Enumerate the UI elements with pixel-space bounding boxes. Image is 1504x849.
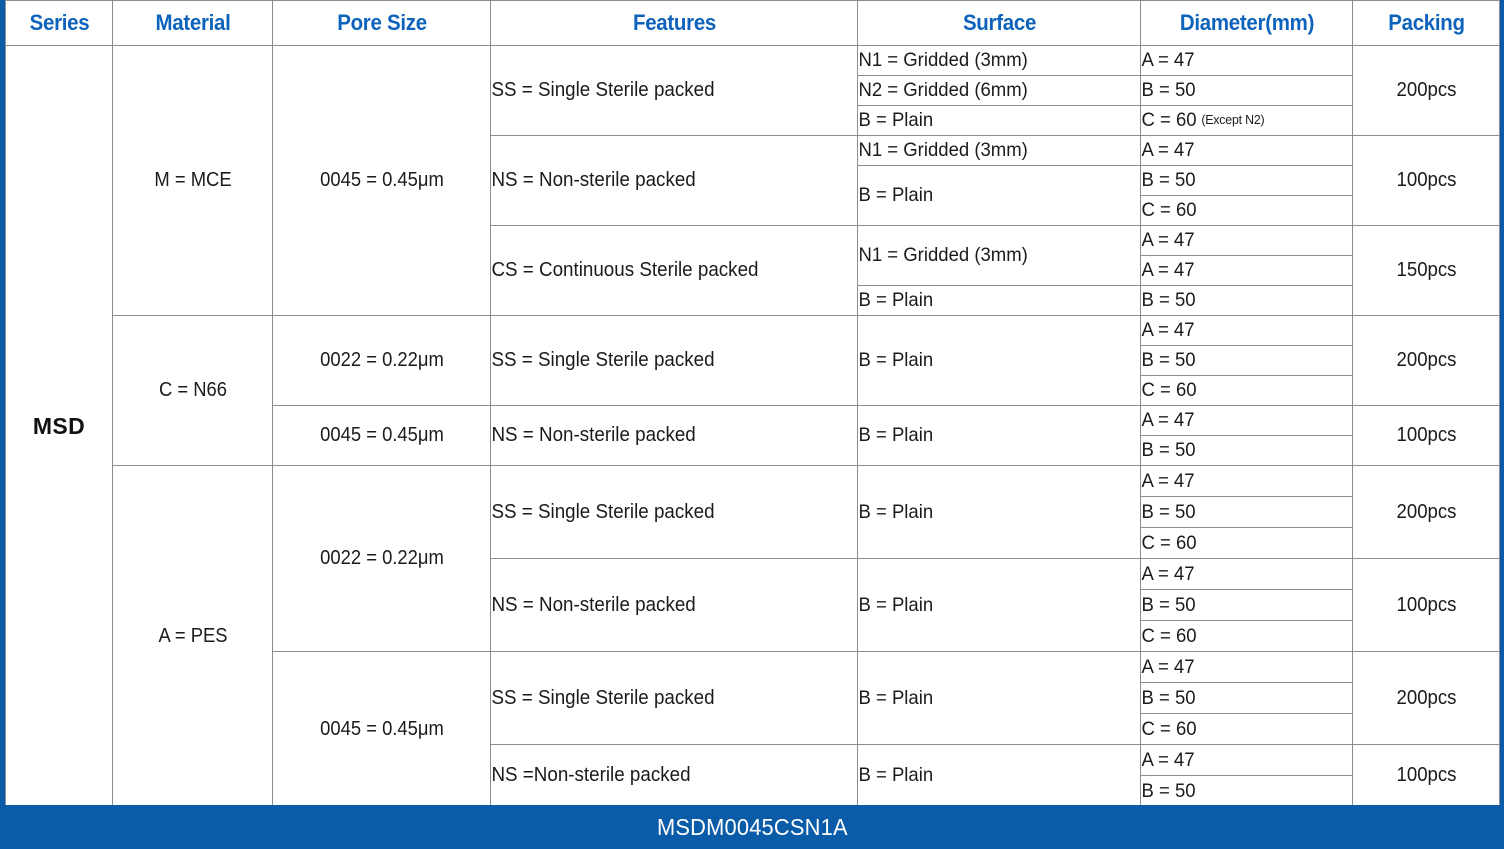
- cell-diameter: A = 47: [1141, 652, 1342, 683]
- col-header-features: Features: [503, 1, 844, 46]
- cell-material-n66: C = N66: [119, 316, 266, 466]
- diameter-value: C = 60: [1141, 532, 1196, 554]
- cell-surface: B = Plain: [858, 652, 1127, 745]
- cell-pore-mce-0045: 0045 = 0.45μm: [281, 46, 482, 316]
- cell-feature-ss: SS = Single Sterile packed: [491, 652, 836, 745]
- cell-diameter: B = 50: [1141, 436, 1342, 466]
- header-row: Series Material Pore Size Features Surfa…: [6, 1, 1500, 46]
- cell-packing: 200pcs: [1358, 46, 1495, 136]
- spec-table-page: Series Material Pore Size Features Surfa…: [0, 0, 1504, 849]
- cell-packing: 200pcs: [1358, 652, 1495, 745]
- diameter-value: A = 47: [1141, 259, 1194, 281]
- cell-diameter: C = 60: [1141, 714, 1342, 745]
- diameter-value: B = 50: [1141, 780, 1195, 802]
- cell-packing: 100pcs: [1358, 136, 1495, 226]
- cell-diameter: A = 47: [1141, 136, 1342, 166]
- diameter-value: A = 47: [1141, 229, 1194, 251]
- cell-feature-ns: NS = Non-sterile packed: [491, 136, 836, 226]
- cell-surface: N2 = Gridded (6mm): [858, 76, 1127, 106]
- cell-diameter: B = 50: [1141, 286, 1342, 316]
- cell-diameter: A = 47: [1141, 226, 1342, 256]
- cell-diameter: A = 47: [1141, 46, 1342, 76]
- cell-feature-ns: NS = Non-sterile packed: [491, 559, 836, 652]
- cell-pore-pes-0045: 0045 = 0.45μm: [281, 652, 482, 807]
- cell-surface: B = Plain: [858, 106, 1127, 136]
- cell-diameter: A = 47: [1141, 406, 1342, 436]
- cell-material-mce: M = MCE: [119, 46, 266, 316]
- cell-diameter: B = 50: [1141, 166, 1342, 196]
- cell-surface: B = Plain: [858, 406, 1127, 466]
- cell-pore-pes-0022: 0022 = 0.22μm: [281, 466, 482, 652]
- cell-packing: 100pcs: [1358, 559, 1495, 652]
- diameter-value: B = 50: [1141, 79, 1195, 101]
- cell-diameter: C = 60: [1141, 621, 1342, 652]
- cell-packing: 200pcs: [1358, 466, 1495, 559]
- diameter-value: A = 47: [1141, 563, 1194, 585]
- diameter-note: (Except N2): [1201, 112, 1264, 127]
- cell-diameter: B = 50: [1141, 683, 1342, 714]
- col-header-diameter: Diameter(mm): [1148, 1, 1345, 46]
- cell-diameter: C = 60: [1141, 196, 1342, 226]
- diameter-value: B = 50: [1141, 439, 1195, 461]
- table-row: C = N66 0022 = 0.22μm SS = Single Steril…: [6, 316, 1500, 346]
- cell-packing: 100pcs: [1358, 745, 1495, 807]
- diameter-value: A = 47: [1141, 319, 1194, 341]
- diameter-value: B = 50: [1141, 687, 1195, 709]
- cell-diameter: A = 47: [1141, 316, 1342, 346]
- cell-feature-ns: NS = Non-sterile packed: [491, 406, 836, 466]
- diameter-value: A = 47: [1141, 656, 1194, 678]
- cell-diameter: C = 60: [1141, 376, 1342, 406]
- cell-diameter: B = 50: [1141, 776, 1342, 807]
- cell-surface: B = Plain: [858, 316, 1127, 406]
- col-header-surface: Surface: [867, 1, 1130, 46]
- cell-feature-ns: NS =Non-sterile packed: [491, 745, 836, 807]
- diameter-value: C = 60: [1141, 718, 1196, 740]
- cell-diameter: A = 47: [1141, 256, 1342, 286]
- cell-surface: B = Plain: [858, 466, 1127, 559]
- col-header-packing: Packing: [1358, 1, 1495, 46]
- cell-diameter: B = 50: [1141, 76, 1342, 106]
- ordering-information-table: Series Material Pore Size Features Surfa…: [5, 0, 1500, 807]
- diameter-value: C = 60: [1141, 379, 1196, 401]
- cell-material-pes: A = PES: [119, 466, 266, 807]
- diameter-value: C = 60: [1141, 109, 1196, 131]
- diameter-value: A = 47: [1141, 139, 1194, 161]
- cell-feature-ss: SS = Single Sterile packed: [491, 466, 836, 559]
- col-header-material: Material: [118, 1, 267, 46]
- cell-surface: N1 = Gridded (3mm): [858, 226, 1127, 286]
- cell-diameter: A = 47: [1141, 466, 1342, 497]
- diameter-value: A = 47: [1141, 749, 1194, 771]
- cell-diameter: B = 50: [1141, 590, 1342, 621]
- cell-diameter: B = 50: [1141, 497, 1342, 528]
- diameter-value: B = 50: [1141, 289, 1195, 311]
- cell-series: MSD: [6, 46, 113, 807]
- cell-packing: 200pcs: [1358, 316, 1495, 406]
- diameter-value: C = 60: [1141, 199, 1196, 221]
- cell-pore-n66-0045: 0045 = 0.45μm: [281, 406, 482, 466]
- table-body: MSD M = MCE 0045 = 0.45μm SS = Single St…: [6, 46, 1500, 807]
- diameter-value: A = 47: [1141, 49, 1194, 71]
- cell-diameter: C = 60: [1141, 528, 1342, 559]
- col-header-pore-size: Pore Size: [280, 1, 483, 46]
- diameter-value: B = 50: [1141, 349, 1195, 371]
- col-header-series: Series: [9, 1, 109, 46]
- cell-surface: N1 = Gridded (3mm): [858, 136, 1127, 166]
- cell-surface: B = Plain: [858, 286, 1127, 316]
- diameter-value: B = 50: [1141, 501, 1195, 523]
- cell-diameter: C = 60(Except N2): [1141, 106, 1342, 136]
- cell-feature-ss: SS = Single Sterile packed: [491, 46, 836, 136]
- cell-diameter: B = 50: [1141, 346, 1342, 376]
- cell-diameter: A = 47: [1141, 559, 1342, 590]
- table-header: Series Material Pore Size Features Surfa…: [6, 1, 1500, 46]
- cell-feature-cs: CS = Continuous Sterile packed: [491, 226, 836, 316]
- diameter-value: C = 60: [1141, 625, 1196, 647]
- part-number-text: MSDM0045CSN1A: [657, 814, 848, 841]
- cell-surface: N1 = Gridded (3mm): [858, 46, 1127, 76]
- cell-feature-ss: SS = Single Sterile packed: [491, 316, 836, 406]
- diameter-value: A = 47: [1141, 470, 1194, 492]
- diameter-value: B = 50: [1141, 169, 1195, 191]
- table-row: MSD M = MCE 0045 = 0.45μm SS = Single St…: [6, 46, 1500, 76]
- cell-pore-n66-0022: 0022 = 0.22μm: [281, 316, 482, 406]
- diameter-value: A = 47: [1141, 409, 1194, 431]
- part-number-banner: MSDM0045CSN1A: [0, 805, 1504, 849]
- diameter-value: B = 50: [1141, 594, 1195, 616]
- cell-surface: B = Plain: [858, 745, 1127, 807]
- table-row: A = PES 0022 = 0.22μm SS = Single Steril…: [6, 466, 1500, 497]
- cell-surface: B = Plain: [858, 559, 1127, 652]
- cell-surface: B = Plain: [858, 166, 1127, 226]
- cell-diameter: A = 47: [1141, 745, 1342, 776]
- cell-packing: 100pcs: [1358, 406, 1495, 466]
- cell-packing: 150pcs: [1358, 226, 1495, 316]
